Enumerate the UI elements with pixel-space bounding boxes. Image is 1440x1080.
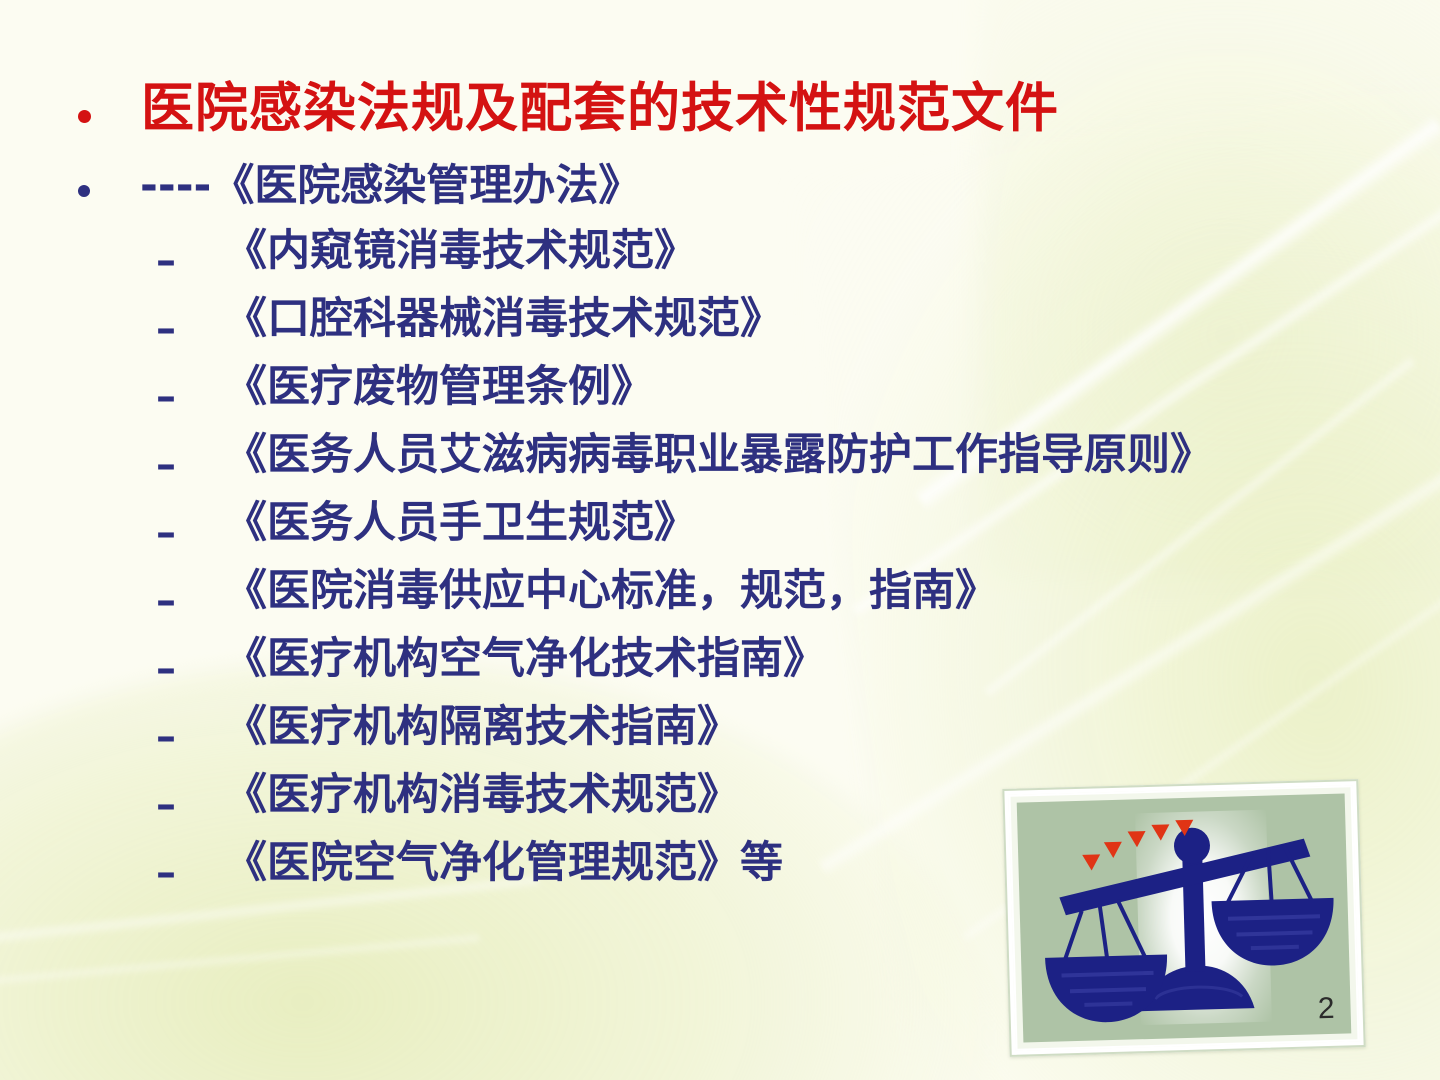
list-item-label: 《医院空气净化管理规范》等 [224,841,783,886]
list-item-label: 《医务人员艾滋病病毒职业暴露防护工作指导原则》 [224,433,1213,478]
slide-subheading: ----《医院感染管理办法》 [140,164,641,209]
balance-scale-icon [1017,793,1352,1042]
list-item-label: 《医疗废物管理条例》 [224,365,654,410]
dash-bullet-icon: – [156,581,182,621]
dash-bullet-icon: – [156,853,182,893]
bullet-dot-icon [78,110,91,123]
list-item-label: 《医疗机构隔离技术指南》 [224,705,740,750]
list-item-label: 《医院消毒供应中心标准，规范，指南》 [224,569,998,614]
slide-number: 2 [1317,992,1335,1026]
list-item: – 《医疗机构空气净化技术指南》 [156,637,1416,705]
list-item: – 《医疗废物管理条例》 [156,365,1416,433]
list-item: – 《口腔科器械消毒技术规范》 [156,297,1416,365]
list-item: – 《内窥镜消毒技术规范》 [156,229,1416,297]
slide-heading: 医院感染法规及配套的技术性规范文件 [141,80,1059,137]
dash-bullet-icon: – [156,377,182,417]
list-item-label: 《内窥镜消毒技术规范》 [224,229,697,274]
justice-scales-image: 2 [1002,779,1365,1057]
presentation-slide: 医院感染法规及配套的技术性规范文件 ----《医院感染管理办法》 – 《内窥镜消… [0,0,1440,1080]
list-item: – 《医疗机构隔离技术指南》 [156,705,1416,773]
list-item-label: 《医疗机构空气净化技术指南》 [224,637,826,682]
dash-bullet-icon: – [156,241,182,281]
dash-bullet-icon: – [156,513,182,553]
dash-bullet-icon: – [156,445,182,485]
dash-bullet-icon: – [156,785,182,825]
bullet-dot-icon [78,185,90,197]
dash-bullet-icon: – [156,309,182,349]
dash-bullet-icon: – [156,717,182,757]
list-item: – 《医院消毒供应中心标准，规范，指南》 [156,569,1416,637]
list-item-label: 《医疗机构消毒技术规范》 [224,773,740,818]
slide-content: 医院感染法规及配套的技术性规范文件 ----《医院感染管理办法》 – 《内窥镜消… [0,0,1440,1080]
dash-bullet-icon: – [156,649,182,689]
subheading-bullet-row: ----《医院感染管理办法》 [78,164,641,209]
list-item: – 《医务人员手卫生规范》 [156,501,1416,569]
list-item-label: 《口腔科器械消毒技术规范》 [224,297,783,342]
heading-bullet-row: 医院感染法规及配套的技术性规范文件 [78,80,1059,137]
list-item-label: 《医务人员手卫生规范》 [224,501,697,546]
picture-canvas: 2 [1017,793,1352,1042]
list-item: – 《医务人员艾滋病病毒职业暴露防护工作指导原则》 [156,433,1416,501]
